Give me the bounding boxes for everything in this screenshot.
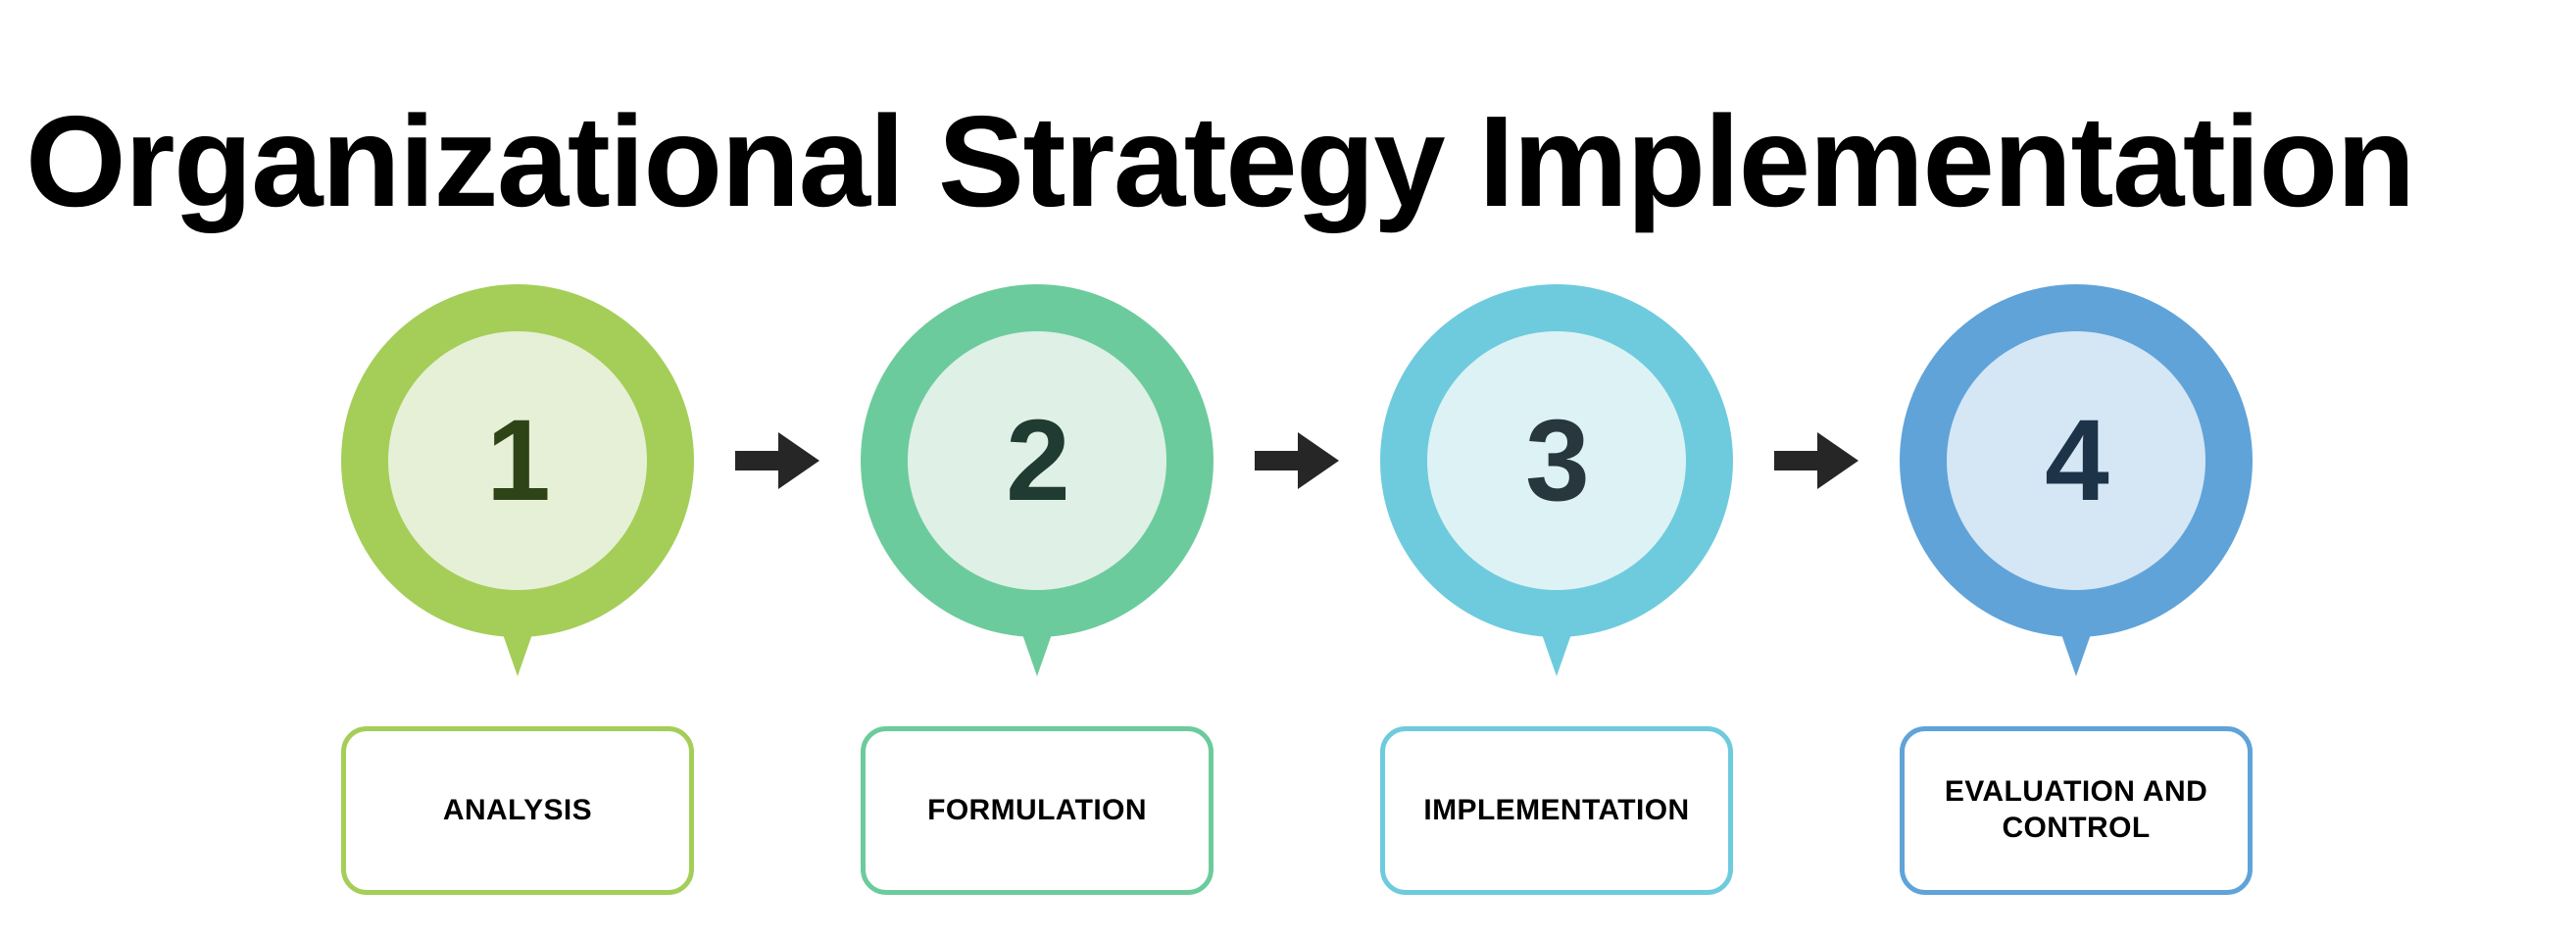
step-label-box-4[interactable]: EVALUATION AND CONTROL xyxy=(1900,726,2253,895)
step-label-text: ANALYSIS xyxy=(443,793,592,829)
process-step-4: 4EVALUATION AND CONTROL xyxy=(1900,0,2253,939)
step-marker-1: 1 xyxy=(341,284,694,676)
step-marker-inner-disc: 3 xyxy=(1427,331,1686,590)
step-label-text: EVALUATION AND CONTROL xyxy=(1918,774,2234,846)
step-label-text: FORMULATION xyxy=(927,793,1147,829)
process-step-1: 1ANALYSIS xyxy=(341,0,694,939)
arrow-right-icon xyxy=(1774,432,1858,489)
step-number: 1 xyxy=(486,403,549,519)
step-label-box-1[interactable]: ANALYSIS xyxy=(341,726,694,895)
step-marker-4: 4 xyxy=(1900,284,2253,676)
step-marker-2: 2 xyxy=(861,284,1214,676)
step-marker-inner-disc: 4 xyxy=(1947,331,2205,590)
step-label-text: IMPLEMENTATION xyxy=(1423,793,1689,829)
arrow-right-icon xyxy=(1255,432,1339,489)
step-number: 4 xyxy=(2045,403,2107,519)
step-marker-3: 3 xyxy=(1380,284,1733,676)
step-label-box-2[interactable]: FORMULATION xyxy=(861,726,1214,895)
process-flow-diagram: 1ANALYSIS2FORMULATION3IMPLEMENTATION4EVA… xyxy=(0,0,2576,939)
step-number: 3 xyxy=(1525,403,1588,519)
process-step-3: 3IMPLEMENTATION xyxy=(1380,0,1733,939)
step-number: 2 xyxy=(1006,403,1068,519)
step-marker-inner-disc: 2 xyxy=(908,331,1166,590)
step-marker-inner-disc: 1 xyxy=(388,331,647,590)
step-label-box-3[interactable]: IMPLEMENTATION xyxy=(1380,726,1733,895)
arrow-right-icon xyxy=(735,432,819,489)
process-step-2: 2FORMULATION xyxy=(861,0,1214,939)
